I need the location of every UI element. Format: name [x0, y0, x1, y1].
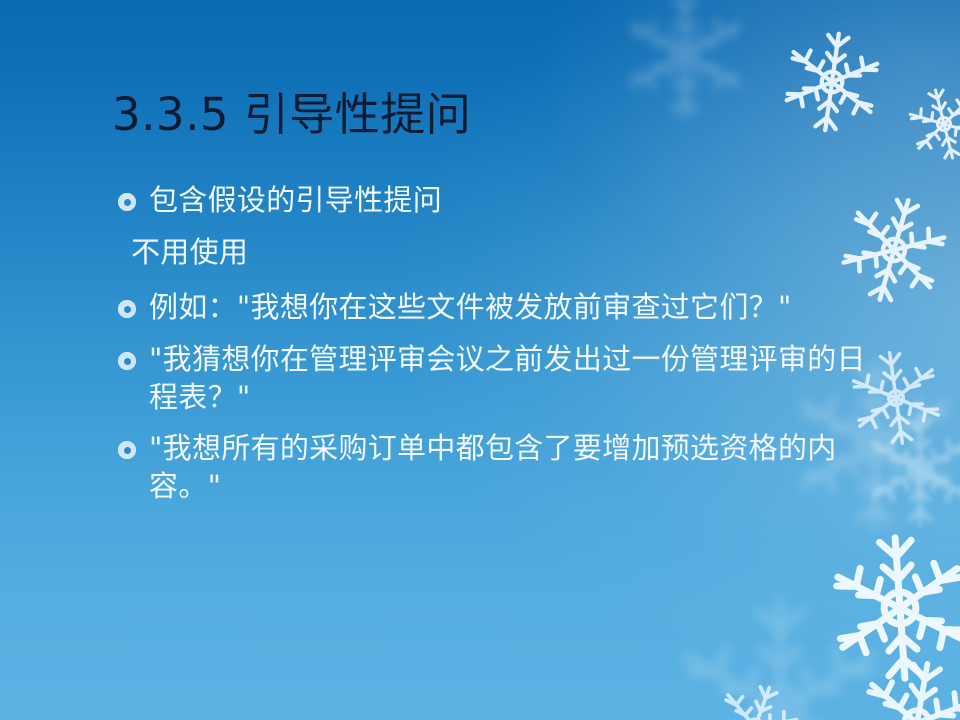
list-item-label: 例如："我想你在这些文件被发放前审查过它们？" — [149, 289, 878, 327]
snowflake-icon — [630, 560, 930, 720]
snowflake-icon — [888, 68, 960, 180]
ring-bullet-icon — [118, 300, 136, 318]
list-item-label: 包含假设的引导性提问 — [149, 182, 878, 220]
ring-bullet-icon — [118, 441, 136, 459]
list-item-label: "我想所有的采购订单中都包含了要增加预选资格的内容。" — [149, 430, 878, 505]
list-item-label: "我猜想你在管理评审会议之前发出过一份管理评审的日程表？" — [149, 341, 878, 416]
slide-title: 3.3.5 引导性提问 — [112, 88, 872, 141]
list-item: "我猜想你在管理评审会议之前发出过一份管理评审的日程表？" — [118, 341, 878, 416]
slide-canvas: 3.3.5 引导性提问 包含假设的引导性提问 不用使用 例如："我想你在这些文件… — [0, 0, 960, 720]
list-item-continuation: 不用使用 — [118, 234, 878, 272]
spacer — [118, 416, 878, 430]
list-item: 例如："我想你在这些文件被发放前审查过它们？" — [118, 289, 878, 327]
spacer — [118, 327, 878, 341]
snowflake-icon — [685, 657, 826, 720]
snowflake-icon — [806, 514, 960, 702]
snowflake-icon — [830, 636, 960, 720]
list-item: "我想所有的采购订单中都包含了要增加预选资格的内容。" — [118, 430, 878, 505]
spacer — [118, 220, 878, 234]
list-item: 包含假设的引导性提问 — [118, 182, 878, 220]
ring-bullet-icon — [118, 193, 136, 211]
ring-bullet-icon — [118, 352, 136, 370]
spacer — [118, 271, 878, 289]
slide-body: 包含假设的引导性提问 不用使用 例如："我想你在这些文件被发放前审查过它们？" … — [118, 182, 878, 506]
